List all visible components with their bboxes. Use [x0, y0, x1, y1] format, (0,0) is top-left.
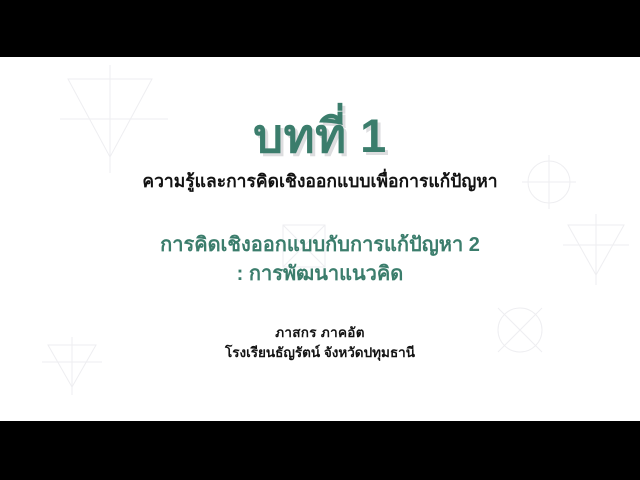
lesson-heading-line-1: การคิดเชิงออกแบบกับการแก้ปัญหา 2: [160, 231, 480, 260]
slide-content: บทที่ 1 ความรู้และการคิดเชิงออกแบบเพื่อก…: [0, 57, 640, 421]
author-school: โรงเรียนธัญรัตน์ จังหวัดปทุมธานี: [225, 343, 415, 363]
chapter-title: บทที่ 1: [253, 112, 387, 159]
chapter-subtitle: ความรู้และการคิดเชิงออกแบบเพื่อการแก้ปัญ…: [142, 171, 497, 191]
slide-canvas: บทที่ 1 ความรู้และการคิดเชิงออกแบบเพื่อก…: [0, 57, 640, 421]
letterbox-bar-bottom: [0, 421, 640, 480]
credits-block: ภาสกร ภาคอัต โรงเรียนธัญรัตน์ จังหวัดปทุ…: [225, 323, 415, 364]
lesson-heading-line-2: : การพัฒนาแนวคิด: [160, 260, 480, 289]
video-frame: บทที่ 1 ความรู้และการคิดเชิงออกแบบเพื่อก…: [0, 0, 640, 480]
author-name: ภาสกร ภาคอัต: [225, 323, 415, 343]
lesson-heading: การคิดเชิงออกแบบกับการแก้ปัญหา 2 : การพั…: [160, 231, 480, 289]
letterbox-bar-top: [0, 0, 640, 57]
